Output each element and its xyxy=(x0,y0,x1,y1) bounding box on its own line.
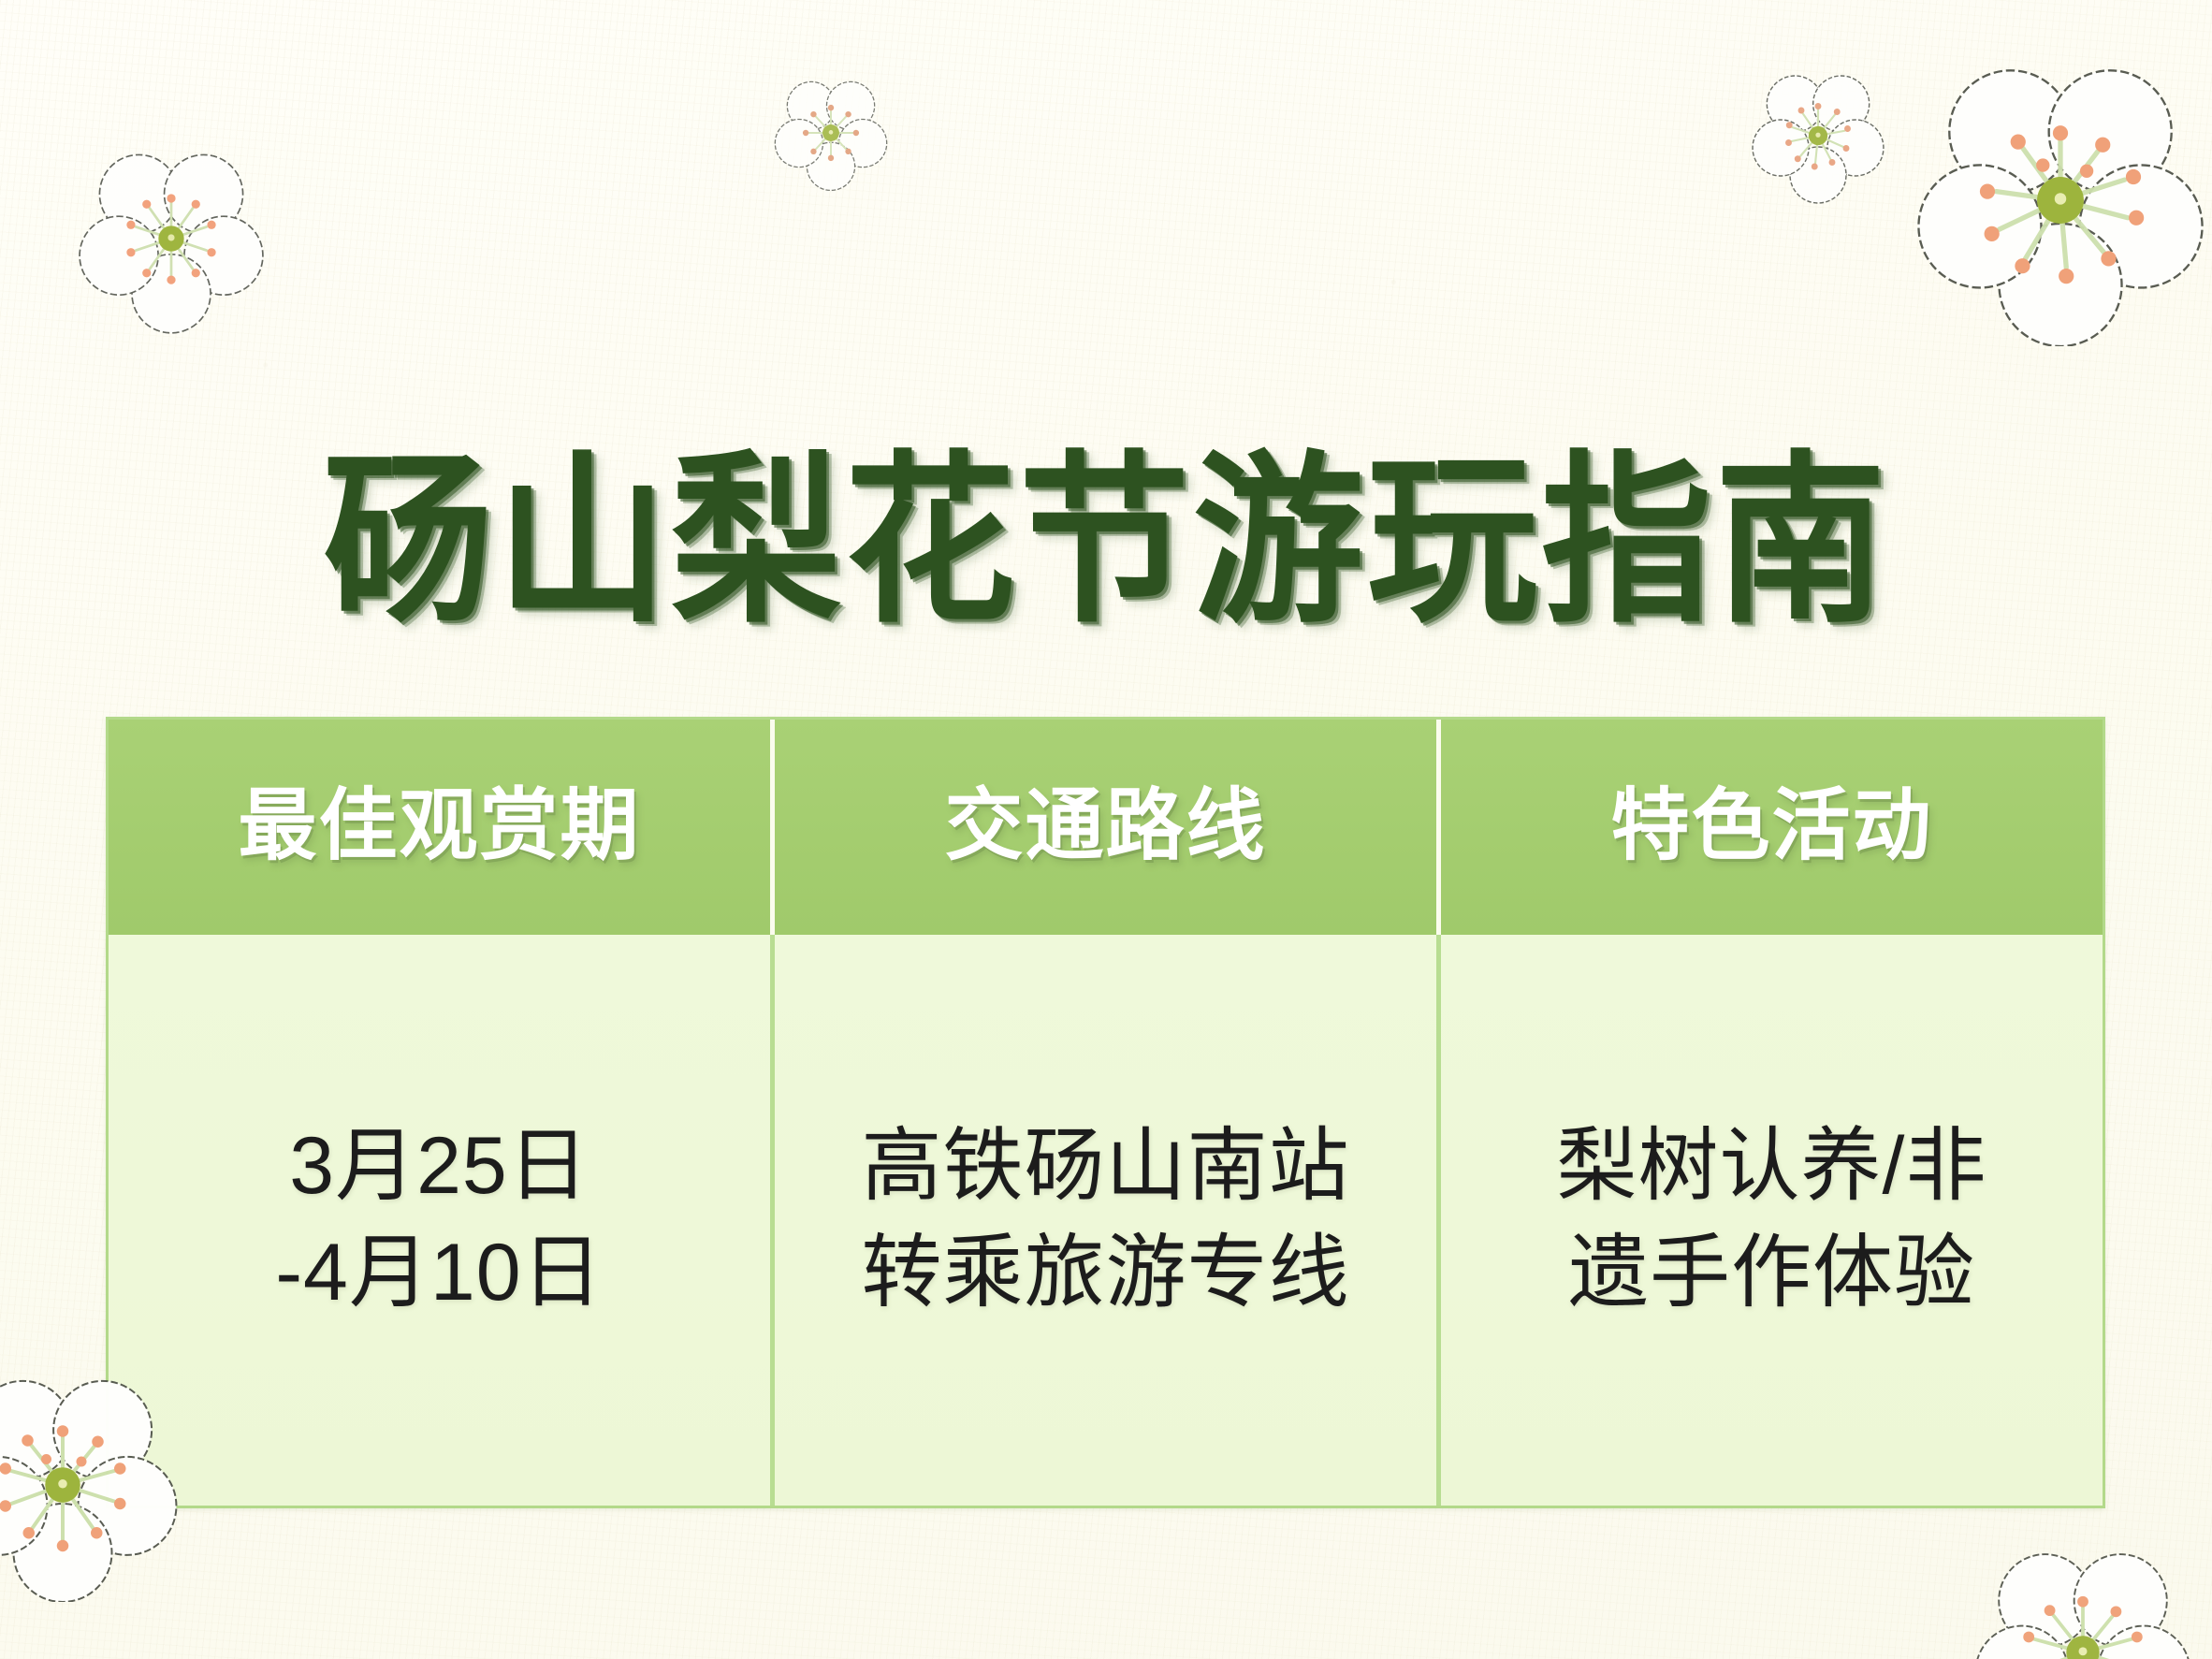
poster-canvas: 砀山梨花节游玩指南 最佳观赏期 交通路线 特色活动 3月25日 -4月10日 高… xyxy=(0,0,2212,1659)
table-cell-text: 3月25日 -4月10日 xyxy=(275,1113,603,1326)
table-cell-transport-route: 高铁砀山南站 转乘旅游专线 xyxy=(775,935,1441,1506)
table-header-cell-special-activities: 特色活动 xyxy=(1441,720,2103,935)
table-row: 3月25日 -4月10日 高铁砀山南站 转乘旅游专线 梨树认养/非 遗手作体验 xyxy=(109,935,2103,1506)
table-header-label: 最佳观赏期 xyxy=(238,788,640,866)
table-header-label: 特色活动 xyxy=(1610,788,1932,866)
page-title: 砀山梨花节游玩指南 xyxy=(323,452,1889,635)
table-header-cell-transport-route: 交通路线 xyxy=(775,720,1441,935)
table-cell-text: 梨树认养/非 遗手作体验 xyxy=(1557,1113,1987,1326)
blossom-bottom-right-icon xyxy=(1972,1542,2193,1659)
table-header-cell-viewing-period: 最佳观赏期 xyxy=(109,720,775,935)
blossom-top-left-icon xyxy=(73,140,269,337)
table-header-row: 最佳观赏期 交通路线 特色活动 xyxy=(109,720,2103,935)
table-header-label: 交通路线 xyxy=(944,788,1266,866)
table-cell-viewing-period: 3月25日 -4月10日 xyxy=(109,935,775,1506)
guide-table: 最佳观赏期 交通路线 特色活动 3月25日 -4月10日 高铁砀山南站 转乘旅游… xyxy=(106,717,2105,1508)
page-title-container: 砀山梨花节游玩指南 xyxy=(0,329,2212,759)
blossom-top-right-small-icon xyxy=(1748,65,1888,206)
table-cell-special-activities: 梨树认养/非 遗手作体验 xyxy=(1441,935,2103,1506)
blossom-top-right-large-icon xyxy=(1914,54,2206,346)
table-cell-text: 高铁砀山南站 转乘旅游专线 xyxy=(862,1113,1350,1326)
blossom-top-center-icon xyxy=(771,73,891,193)
